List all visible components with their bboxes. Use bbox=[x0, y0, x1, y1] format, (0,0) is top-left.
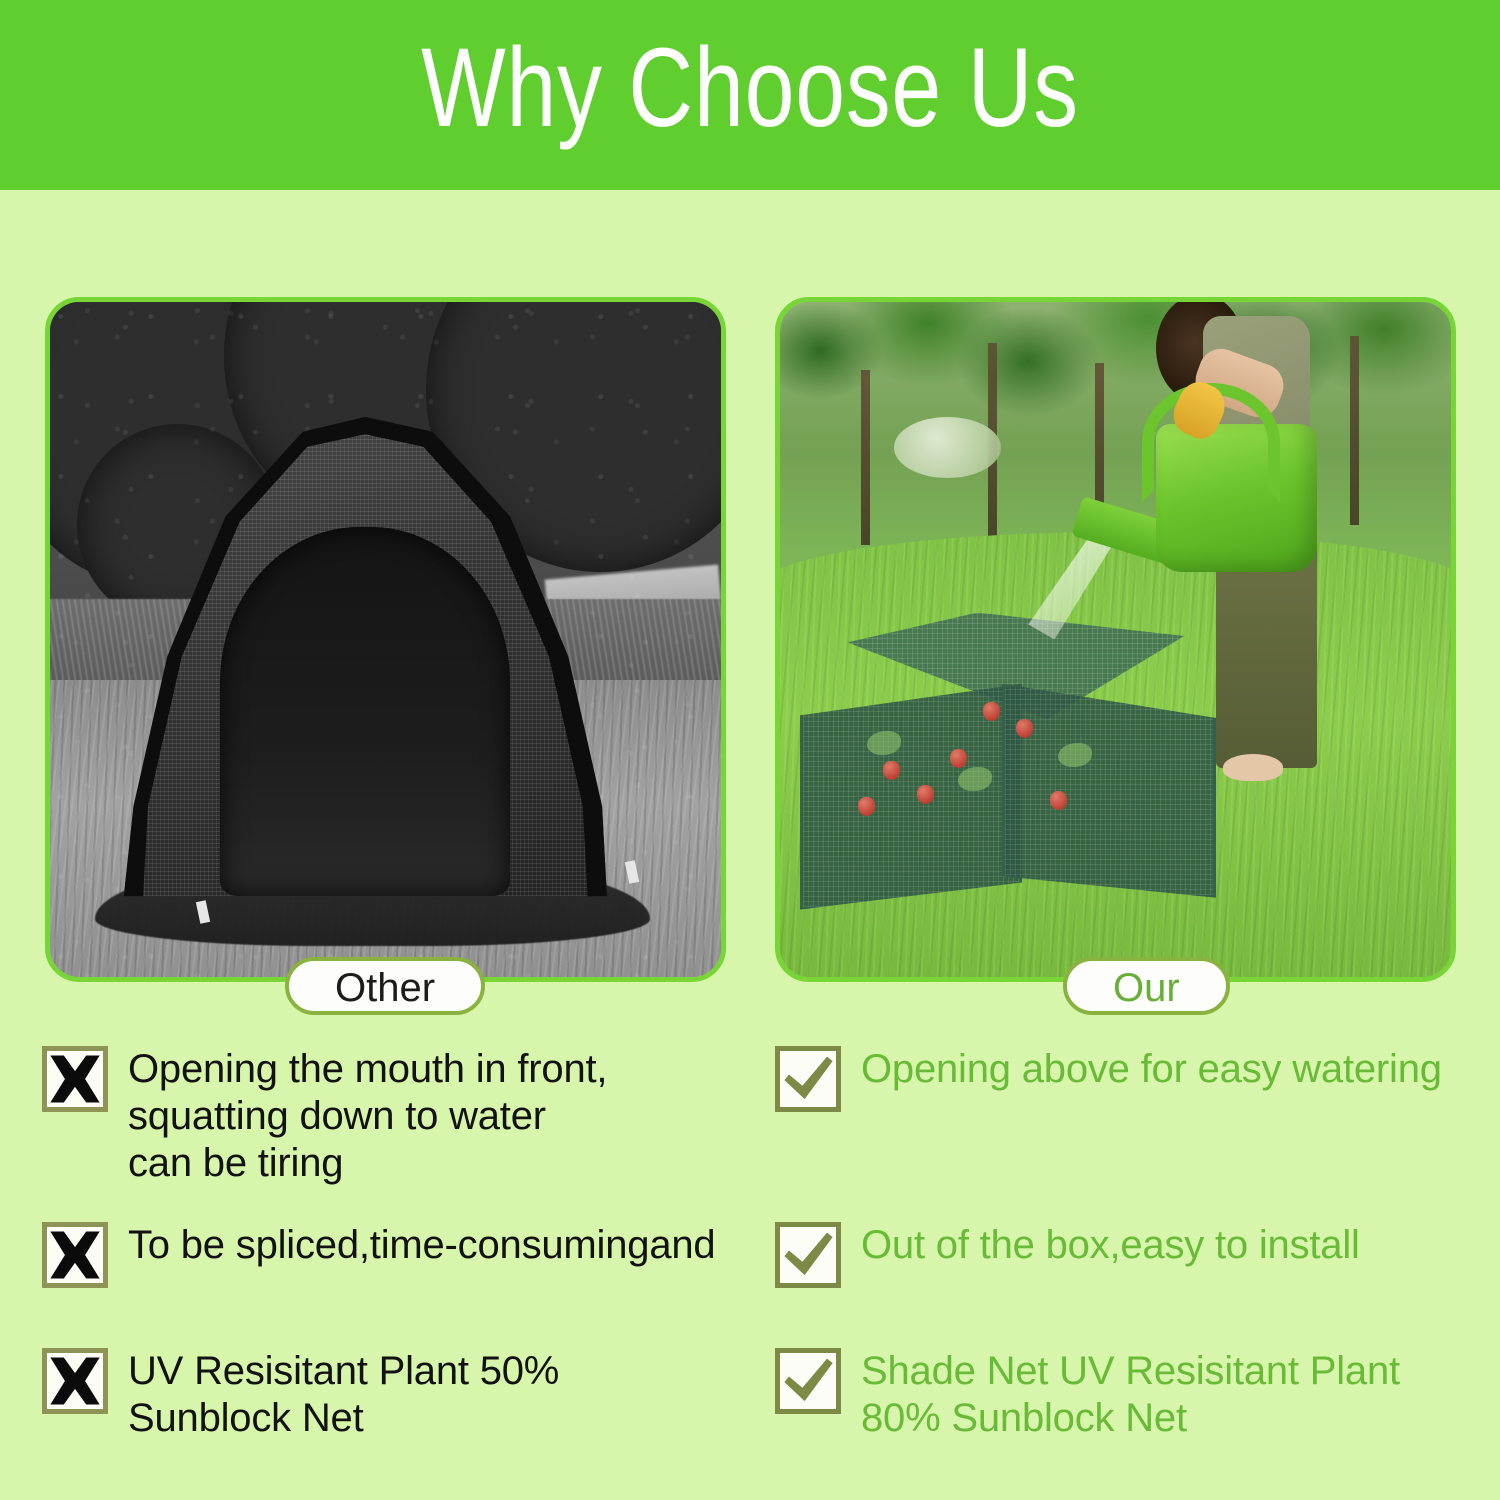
photo-other-image bbox=[50, 302, 721, 977]
feature-label: UV Resisitant Plant 50% Sunblock Net bbox=[128, 1348, 559, 1442]
tent-front-opening bbox=[220, 527, 510, 897]
infographic-page: Why Choose Us bbox=[0, 0, 1500, 1500]
feature-label: Shade Net UV Resisitant Plant 80% Sunblo… bbox=[861, 1348, 1400, 1442]
badge-our: Our bbox=[1063, 957, 1230, 1015]
photo-other bbox=[45, 297, 726, 982]
feature-row: Opening the mouth in front, squatting do… bbox=[42, 1046, 607, 1187]
header-band: Why Choose Us bbox=[0, 0, 1500, 190]
feature-row: Out of the box,easy to install bbox=[775, 1222, 1360, 1288]
feature-row: UV Resisitant Plant 50% Sunblock Net bbox=[42, 1348, 559, 1442]
tree-trunk bbox=[861, 370, 870, 546]
strawberry bbox=[858, 797, 875, 816]
tree-trunk bbox=[1350, 336, 1359, 525]
strawberry bbox=[1050, 791, 1067, 810]
flowering-bush bbox=[894, 417, 1001, 478]
feature-row: Opening above for easy watering bbox=[775, 1046, 1442, 1112]
photo-our bbox=[775, 297, 1456, 982]
feature-row: To be spliced,time-consumingand bbox=[42, 1222, 715, 1288]
person-foot bbox=[1223, 754, 1283, 781]
x-mark-icon bbox=[42, 1046, 108, 1112]
feature-label: To be spliced,time-consumingand bbox=[128, 1222, 715, 1269]
bw-plant-tent bbox=[124, 417, 607, 917]
cage-right-panel bbox=[1002, 684, 1216, 898]
strawberry bbox=[950, 749, 967, 768]
x-mark-icon bbox=[42, 1222, 108, 1288]
badge-other: Other bbox=[285, 957, 485, 1015]
feature-label: Opening the mouth in front, squatting do… bbox=[128, 1046, 607, 1187]
strawberry bbox=[917, 785, 934, 804]
x-mark-icon bbox=[42, 1348, 108, 1414]
photo-our-image bbox=[780, 302, 1451, 977]
check-mark-icon bbox=[775, 1046, 841, 1112]
page-title: Why Choose Us bbox=[150, 28, 1350, 148]
check-mark-icon bbox=[775, 1348, 841, 1414]
mesh-plant-cage bbox=[800, 613, 1216, 910]
feature-row: Shade Net UV Resisitant Plant 80% Sunblo… bbox=[775, 1348, 1400, 1442]
strawberry bbox=[983, 702, 1000, 721]
feature-label: Out of the box,easy to install bbox=[861, 1222, 1360, 1269]
check-mark-icon bbox=[775, 1222, 841, 1288]
feature-label: Opening above for easy watering bbox=[861, 1046, 1442, 1093]
